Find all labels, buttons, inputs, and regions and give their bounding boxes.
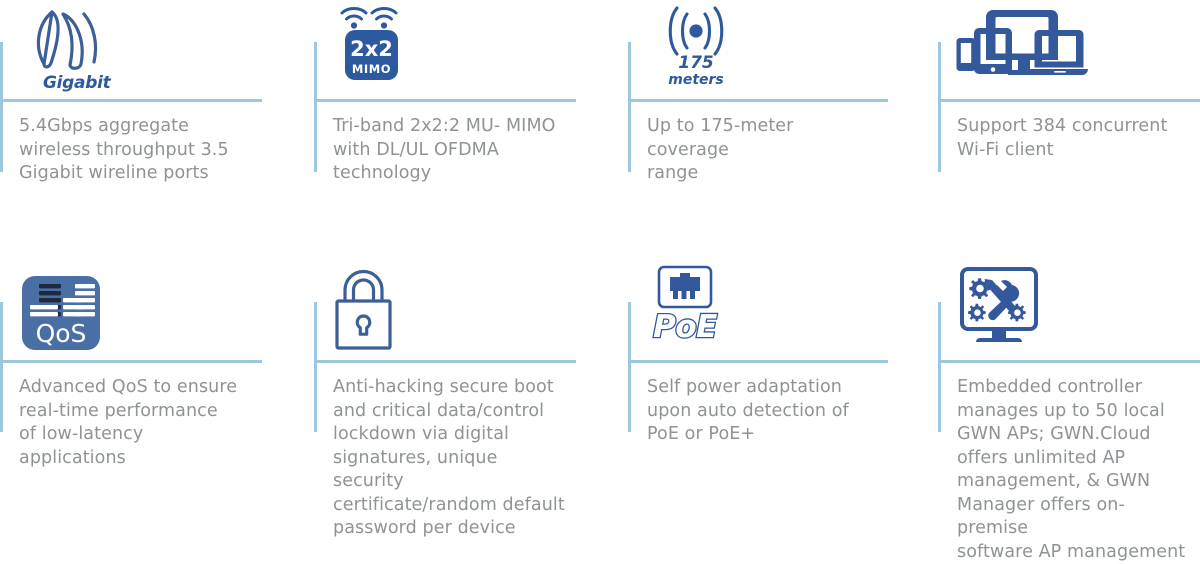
feature-card-gigabit: Gigabit 5.4Gbps aggregate wireless throu… (0, 0, 262, 260)
mimo-2x2-badge-icon: 2x2 MIMO (332, 0, 424, 95)
qos-equalizer-badge-icon: QoS (18, 262, 112, 356)
svg-text:PoE: PoE (653, 309, 717, 345)
coverage-radio-waves-icon: 175 meters (646, 0, 746, 95)
svg-text:meters: meters (668, 72, 724, 88)
feature-description: Up to 175-meter coverage range (647, 115, 880, 186)
accent-bar (628, 302, 631, 432)
accent-bar (0, 42, 3, 172)
svg-text:QoS: QoS (36, 319, 87, 348)
feature-card-coverage: 175 meters Up to 175-meter coverage rang… (628, 0, 888, 260)
feature-row-1: Gigabit 5.4Gbps aggregate wireless throu… (0, 0, 1200, 260)
embedded-controller-monitor-icon (956, 262, 1052, 356)
poe-ethernet-port-icon: PoE (646, 262, 744, 356)
divider-line (314, 360, 576, 363)
svg-text:2x2: 2x2 (350, 37, 393, 61)
multi-device-clients-icon (956, 0, 1088, 95)
svg-text:175: 175 (678, 53, 714, 73)
feature-description: Advanced QoS to ensure real-time perform… (19, 376, 254, 470)
feature-card-qos: QoS Advanced QoS to ensure real-time per… (0, 262, 262, 524)
feature-card-mimo: 2x2 MIMO Tri-band 2x2:2 MU- MIMO with DL… (314, 0, 576, 260)
accent-bar (314, 302, 317, 432)
divider-line (314, 99, 576, 102)
svg-text:MIMO: MIMO (352, 62, 391, 76)
feature-card-poe: PoE Self power adaptation upon auto dete… (628, 262, 888, 524)
feature-card-security: Anti-hacking secure boot and critical da… (314, 262, 576, 524)
gigabit-arcs-icon: Gigabit (18, 0, 130, 95)
feature-description: Self power adaptation upon auto detectio… (647, 376, 880, 447)
padlock-icon (332, 262, 422, 356)
feature-description: 5.4Gbps aggregate wireless throughput 3.… (19, 115, 254, 186)
divider-line (0, 99, 262, 102)
feature-description: Anti-hacking secure boot and critical da… (333, 376, 568, 541)
feature-card-clients: Support 384 concurrent Wi-Fi client (938, 0, 1200, 260)
feature-card-controller: Embedded controller manages up to 50 loc… (938, 262, 1200, 524)
divider-line (938, 360, 1200, 363)
feature-grid: Gigabit 5.4Gbps aggregate wireless throu… (0, 0, 1200, 524)
divider-line (0, 360, 262, 363)
svg-text:Gigabit: Gigabit (43, 73, 112, 93)
feature-description: Support 384 concurrent Wi-Fi client (957, 115, 1192, 162)
accent-bar (938, 42, 941, 172)
divider-line (938, 99, 1200, 102)
feature-description: Tri-band 2x2:2 MU- MIMO with DL/UL OFDMA… (333, 115, 568, 186)
accent-bar (938, 302, 941, 432)
divider-line (628, 99, 888, 102)
accent-bar (628, 42, 631, 172)
accent-bar (314, 42, 317, 172)
feature-description: Embedded controller manages up to 50 loc… (957, 376, 1192, 564)
accent-bar (0, 302, 3, 432)
divider-line (628, 360, 888, 363)
feature-row-2: QoS Advanced QoS to ensure real-time per… (0, 262, 1200, 524)
